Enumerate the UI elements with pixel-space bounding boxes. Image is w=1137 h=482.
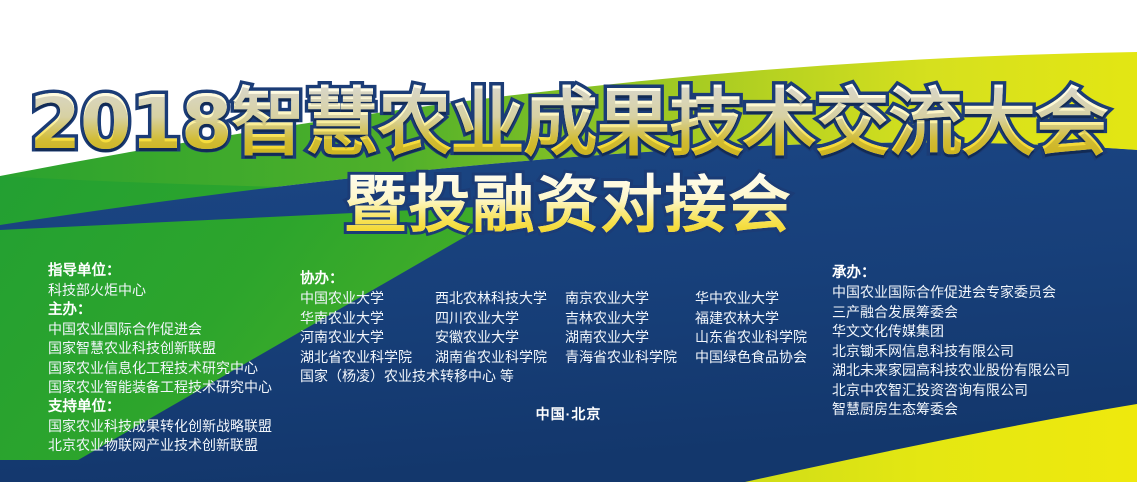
coorganizer-row: 中国农业大学 西北农林科技大学 南京农业大学 华中农业大学: [300, 289, 820, 309]
coorganizer-row: 华南农业大学 四川农业大学 吉林农业大学 福建农林大学: [300, 309, 820, 329]
coorganizer-last-line: 国家（杨凌）农业技术转移中心 等: [300, 367, 820, 387]
poster-title-fill: 2018智慧农业成果技术交流大会: [0, 84, 1137, 162]
coorganizer-item: 山东省农业科学院: [695, 328, 807, 348]
coorganizer-item: 南京农业大学: [565, 289, 695, 309]
coorganizer-item: 华中农业大学: [695, 289, 779, 309]
coorganizer-item: 青海省农业科学院: [565, 348, 695, 368]
coorganizer-item: 安徽农业大学: [435, 328, 565, 348]
coorganizer-item: 中国绿色食品协会: [695, 348, 807, 368]
organizer-item: 华文文化传媒集团: [832, 322, 1132, 342]
poster-title: 2018智慧农业成果技术交流大会 2018智慧农业成果技术交流大会: [0, 84, 1137, 162]
coorganizer-item: 西北农林科技大学: [435, 289, 565, 309]
organizer-item: 湖北未来家园高科技农业股份有限公司: [832, 361, 1132, 381]
host-item: 国家智慧农业科技创新联盟: [48, 339, 298, 359]
left-info-column: 指导单位： 科技部火炬中心 主办： 中国农业国际合作促进会 国家智慧农业科技创新…: [48, 262, 298, 456]
guide-item: 科技部火炬中心: [48, 281, 298, 301]
organizer-column: 承办： 中国农业国际合作促进会专家委员会 三产融合发展筹委会 华文文化传媒集团 …: [832, 264, 1132, 420]
coorganizer-item: 河南农业大学: [300, 328, 435, 348]
coorganizer-row: 湖北省农业科学院 湖南省农业科学院 青海省农业科学院 中国绿色食品协会: [300, 348, 820, 368]
coorganizer-item: 中国农业大学: [300, 289, 435, 309]
organizer-item: 北京中农智汇投资咨询有限公司: [832, 381, 1132, 401]
coorganizer-item: 湖北省农业科学院: [300, 348, 435, 368]
organizer-item: 三产融合发展筹委会: [832, 303, 1132, 323]
coorganizer-item: 吉林农业大学: [565, 309, 695, 329]
organizer-label: 承办：: [832, 264, 1132, 283]
organizer-item: 北京锄禾网信息科技有限公司: [832, 342, 1132, 362]
organizer-item: 中国农业国际合作促进会专家委员会: [832, 283, 1132, 303]
host-label: 主办：: [48, 301, 298, 320]
coorganizer-item: 四川农业大学: [435, 309, 565, 329]
coorganizer-item: 湖南农业大学: [565, 328, 695, 348]
coorganizer-item: 福建农林大学: [695, 309, 779, 329]
poster-subtitle: 暨投融资对接会 暨投融资对接会: [0, 172, 1137, 238]
support-item: 北京农业物联网产业技术创新联盟: [48, 436, 298, 456]
coorganizer-column: 协办： 中国农业大学 西北农林科技大学 南京农业大学 华中农业大学 华南农业大学…: [300, 270, 820, 387]
guide-label: 指导单位：: [48, 262, 298, 281]
coorganizer-item: 华南农业大学: [300, 309, 435, 329]
host-item: 中国农业国际合作促进会: [48, 320, 298, 340]
poster-subtitle-fill: 暨投融资对接会: [0, 172, 1137, 238]
host-item: 国家农业信息化工程技术研究中心: [48, 359, 298, 379]
coorganizer-label: 协办：: [300, 270, 820, 289]
event-poster: 2018智慧农业成果技术交流大会 2018智慧农业成果技术交流大会 暨投融资对接…: [0, 0, 1137, 482]
coorganizer-row: 河南农业大学 安徽农业大学 湖南农业大学 山东省农业科学院: [300, 328, 820, 348]
host-item: 国家农业智能装备工程技术研究中心: [48, 378, 298, 398]
coorganizer-item: 湖南省农业科学院: [435, 348, 565, 368]
event-location: 中国·北京: [0, 404, 1137, 424]
